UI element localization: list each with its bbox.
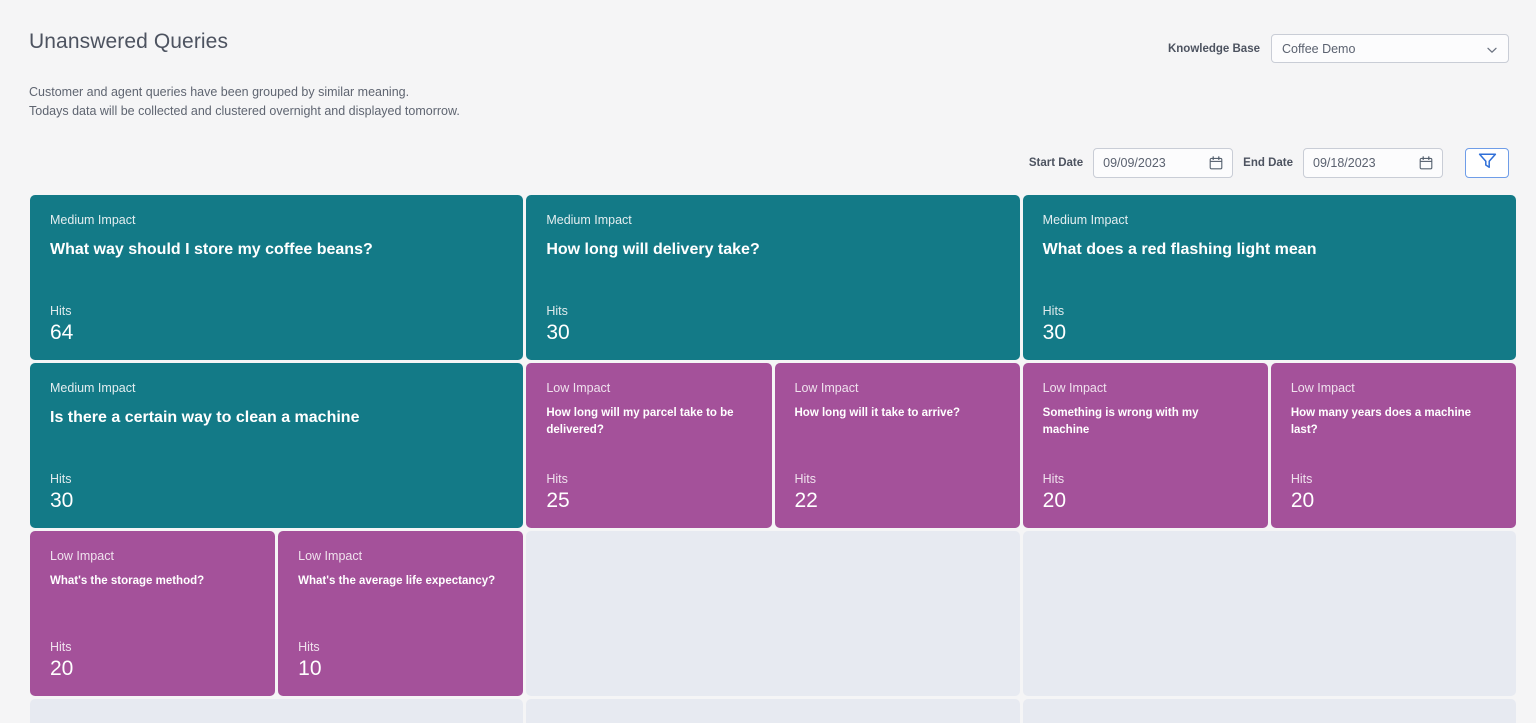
query-card[interactable]: Low ImpactWhat's the average life expect… bbox=[278, 531, 523, 696]
impact-badge: Low Impact bbox=[795, 381, 1000, 395]
query-card[interactable]: Medium ImpactIs there a certain way to c… bbox=[30, 363, 523, 528]
query-text: What does a red flashing light mean bbox=[1043, 239, 1496, 260]
impact-badge: Medium Impact bbox=[546, 213, 999, 227]
hits-label: Hits bbox=[298, 640, 503, 654]
query-text: How long will delivery take? bbox=[546, 239, 999, 260]
query-card-grid: Medium ImpactWhat way should I store my … bbox=[30, 195, 1516, 723]
date-filter-bar: Start Date 09/09/2023 End Date 09/18/202… bbox=[1029, 148, 1509, 178]
impact-badge: Low Impact bbox=[546, 381, 751, 395]
card-spacer bbox=[546, 260, 999, 304]
query-card[interactable]: Medium ImpactWhat way should I store my … bbox=[30, 195, 523, 360]
empty-card-placeholder bbox=[1023, 699, 1516, 723]
apply-filter-button[interactable] bbox=[1465, 148, 1509, 178]
hits-label: Hits bbox=[546, 304, 999, 318]
card-spacer bbox=[795, 422, 1000, 472]
query-text: How long will my parcel take to be deliv… bbox=[546, 405, 751, 439]
empty-card-placeholder bbox=[1023, 531, 1516, 696]
chevron-down-icon bbox=[1486, 43, 1498, 55]
unanswered-queries-page: Unanswered Queries Knowledge Base Coffee… bbox=[0, 0, 1536, 723]
query-text: What way should I store my coffee beans? bbox=[50, 239, 503, 260]
end-date-label: End Date bbox=[1243, 157, 1293, 169]
hits-value: 22 bbox=[795, 488, 1000, 514]
empty-card-placeholder bbox=[526, 531, 1019, 696]
hits-value: 30 bbox=[1043, 320, 1496, 346]
query-text: Is there a certain way to clean a machin… bbox=[50, 407, 503, 428]
page-title: Unanswered Queries bbox=[29, 30, 228, 54]
hits-value: 20 bbox=[1291, 488, 1496, 514]
calendar-icon[interactable] bbox=[1209, 156, 1223, 170]
hits-value: 64 bbox=[50, 320, 503, 346]
hits-label: Hits bbox=[50, 640, 255, 654]
query-text: How long will it take to arrive? bbox=[795, 405, 1000, 422]
knowledge-base-label: Knowledge Base bbox=[1168, 43, 1260, 55]
page-header: Unanswered Queries Knowledge Base Coffee… bbox=[0, 0, 1536, 70]
hits-label: Hits bbox=[1043, 304, 1496, 318]
impact-badge: Medium Impact bbox=[50, 381, 503, 395]
end-date-input[interactable]: 09/18/2023 bbox=[1303, 148, 1443, 178]
hits-value: 30 bbox=[50, 488, 503, 514]
card-spacer bbox=[50, 260, 503, 304]
query-card[interactable]: Low ImpactHow many years does a machine … bbox=[1271, 363, 1516, 528]
end-date-value: 09/18/2023 bbox=[1313, 156, 1376, 170]
card-spacer bbox=[1043, 260, 1496, 304]
query-card[interactable]: Medium ImpactWhat does a red flashing li… bbox=[1023, 195, 1516, 360]
hits-value: 10 bbox=[298, 656, 503, 682]
card-spacer bbox=[50, 590, 255, 640]
card-spacer bbox=[1043, 439, 1248, 472]
description-line-1: Customer and agent queries have been gro… bbox=[29, 83, 460, 102]
knowledge-base-select[interactable]: Coffee Demo bbox=[1271, 34, 1509, 63]
knowledge-base-selector-group: Knowledge Base Coffee Demo bbox=[1168, 34, 1509, 63]
page-description: Customer and agent queries have been gro… bbox=[29, 83, 460, 121]
card-spacer bbox=[546, 439, 751, 472]
card-spacer bbox=[1291, 439, 1496, 472]
hits-label: Hits bbox=[795, 472, 1000, 486]
start-date-value: 09/09/2023 bbox=[1103, 156, 1166, 170]
hits-value: 25 bbox=[546, 488, 751, 514]
hits-label: Hits bbox=[50, 472, 503, 486]
empty-card-placeholder bbox=[30, 699, 523, 723]
impact-badge: Low Impact bbox=[1043, 381, 1248, 395]
start-date-label: Start Date bbox=[1029, 157, 1083, 169]
hits-label: Hits bbox=[1043, 472, 1248, 486]
impact-badge: Medium Impact bbox=[1043, 213, 1496, 227]
description-line-2: Todays data will be collected and cluste… bbox=[29, 102, 460, 121]
knowledge-base-selected-value: Coffee Demo bbox=[1282, 42, 1355, 56]
query-card[interactable]: Low ImpactWhat's the storage method?Hits… bbox=[30, 531, 275, 696]
card-spacer bbox=[298, 590, 503, 640]
funnel-filter-icon bbox=[1478, 152, 1497, 174]
empty-card-placeholder bbox=[526, 699, 1019, 723]
query-text: Something is wrong with my machine bbox=[1043, 405, 1248, 439]
query-card[interactable]: Low ImpactSomething is wrong with my mac… bbox=[1023, 363, 1268, 528]
query-card[interactable]: Medium ImpactHow long will delivery take… bbox=[526, 195, 1019, 360]
hits-value: 20 bbox=[50, 656, 255, 682]
query-card[interactable]: Low ImpactHow long will my parcel take t… bbox=[526, 363, 771, 528]
query-text: How many years does a machine last? bbox=[1291, 405, 1496, 439]
impact-badge: Low Impact bbox=[50, 549, 255, 563]
hits-value: 20 bbox=[1043, 488, 1248, 514]
query-card[interactable]: Low ImpactHow long will it take to arriv… bbox=[775, 363, 1020, 528]
card-spacer bbox=[50, 428, 503, 472]
hits-label: Hits bbox=[50, 304, 503, 318]
calendar-icon[interactable] bbox=[1419, 156, 1433, 170]
start-date-input[interactable]: 09/09/2023 bbox=[1093, 148, 1233, 178]
hits-label: Hits bbox=[546, 472, 751, 486]
impact-badge: Low Impact bbox=[1291, 381, 1496, 395]
impact-badge: Medium Impact bbox=[50, 213, 503, 227]
impact-badge: Low Impact bbox=[298, 549, 503, 563]
hits-label: Hits bbox=[1291, 472, 1496, 486]
hits-value: 30 bbox=[546, 320, 999, 346]
query-text: What's the average life expectancy? bbox=[298, 573, 503, 590]
query-text: What's the storage method? bbox=[50, 573, 255, 590]
